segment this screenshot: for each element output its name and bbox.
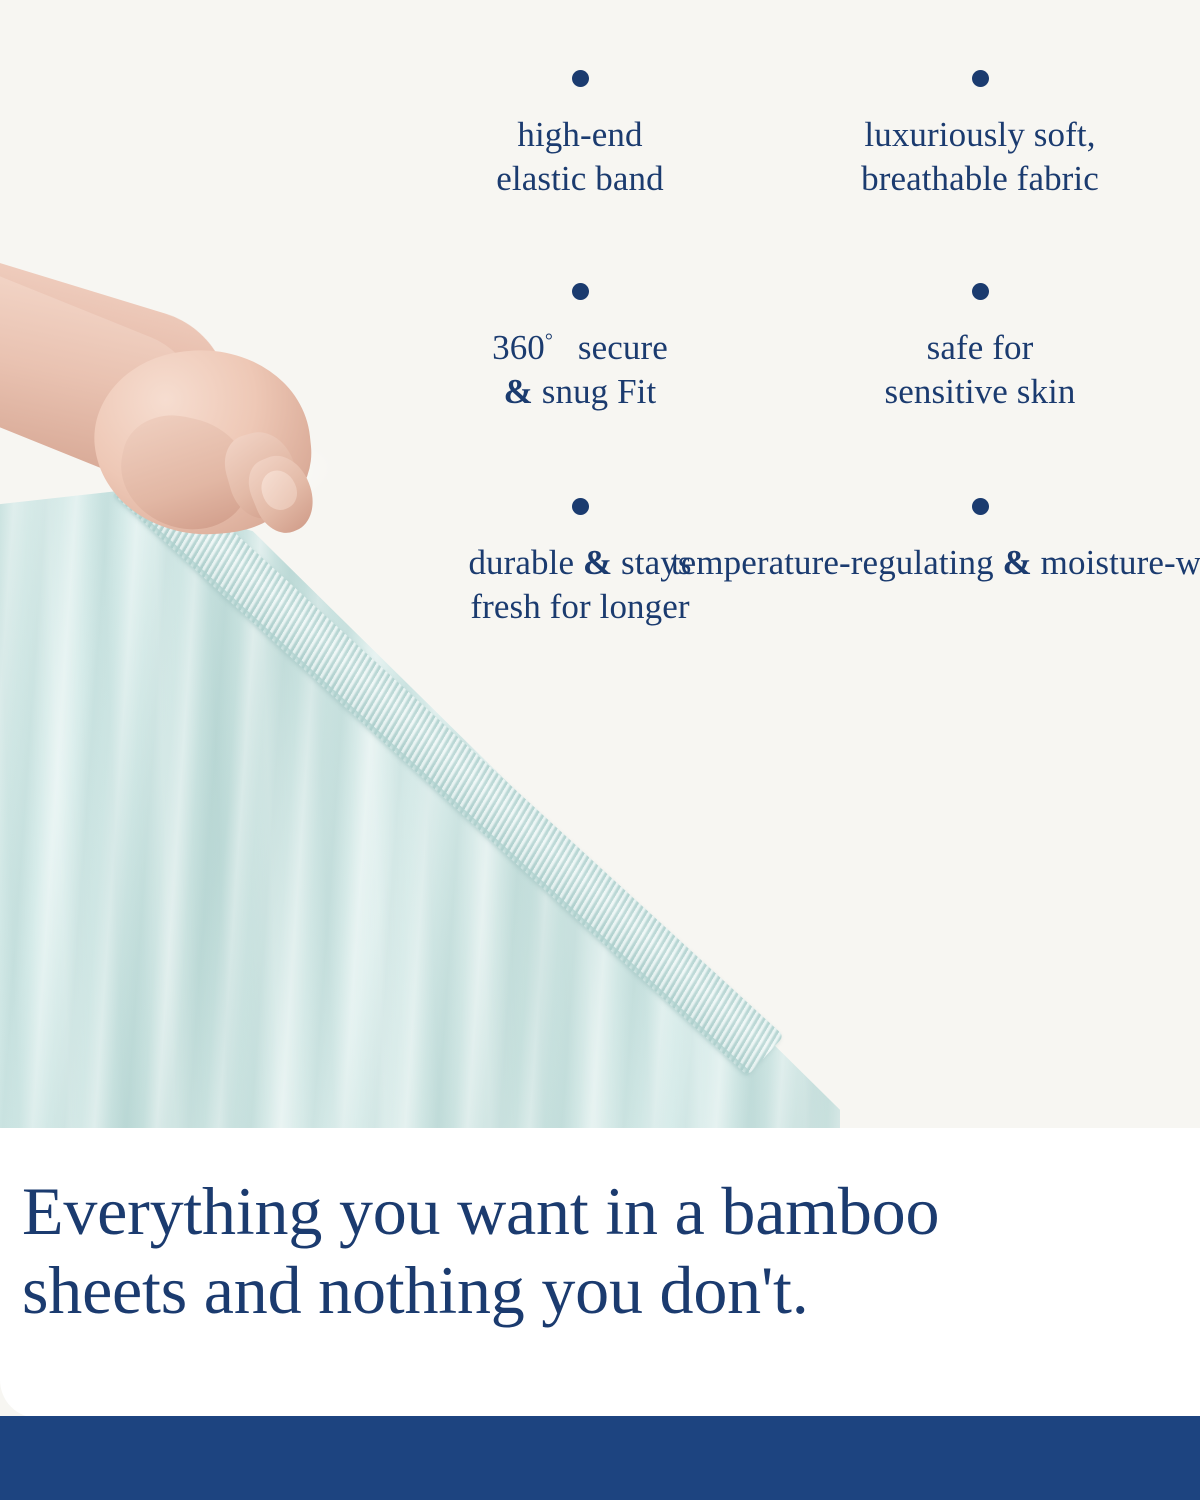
feature-label: luxuriously soft, breathable fabric <box>861 113 1099 201</box>
ampersand: & <box>1003 543 1032 582</box>
feature-text-line1: temperature-regulating <box>671 543 994 582</box>
feature-item-luxuriously-soft: luxuriously soft, breathable fabric <box>780 70 1180 201</box>
feature-item-temperature-regulating: temperature-regulating & moisture-wickin… <box>780 498 1180 629</box>
feature-number: 360 <box>492 328 545 367</box>
feature-text-rest: secure <box>569 328 668 367</box>
footer-bar <box>0 1416 1200 1500</box>
feature-label: temperature-regulating & moisture-wickin… <box>671 541 1200 585</box>
feature-text-pre: durable <box>468 543 583 582</box>
bullet-dot-icon <box>572 498 589 515</box>
feature-label: safe for sensitive skin <box>885 326 1076 414</box>
bullet-dot-icon <box>572 283 589 300</box>
feature-item-360-secure-snug-fit: 360° secure & snug Fit <box>380 283 780 414</box>
degree-symbol: ° <box>545 330 569 352</box>
bullet-dot-icon <box>572 70 589 87</box>
feature-row-2: 360° secure & snug Fit safe for sensitiv… <box>380 283 1180 414</box>
feature-item-safe-for-sensitive-skin: safe for sensitive skin <box>780 283 1180 414</box>
feature-label: durable & stays fresh for longer <box>468 541 691 629</box>
feature-label: high-end elastic band <box>496 113 663 201</box>
bullet-dot-icon <box>972 283 989 300</box>
feature-item-high-end-elastic-band: high-end elastic band <box>380 70 780 201</box>
feature-text-post: moisture-wicking <box>1032 543 1200 582</box>
bullet-dot-icon <box>972 498 989 515</box>
bullet-dot-icon <box>972 70 989 87</box>
ampersand: & <box>504 372 533 411</box>
feature-row-3: durable & stays fresh for longer tempera… <box>380 498 1180 629</box>
headline-text: Everything you want in a bamboo sheets a… <box>22 1172 1186 1330</box>
feature-row-1: high-end elastic band luxuriously soft, … <box>380 70 1180 201</box>
ampersand: & <box>583 543 612 582</box>
feature-text-line2: snug Fit <box>542 372 657 411</box>
feature-text-line2: fresh for longer <box>470 587 689 626</box>
headline-card: Everything you want in a bamboo sheets a… <box>0 1128 1200 1418</box>
product-feature-image: high-end elastic band luxuriously soft, … <box>0 0 1200 1500</box>
feature-list: high-end elastic band luxuriously soft, … <box>380 70 1180 630</box>
feature-label: 360° secure & snug Fit <box>492 326 668 414</box>
